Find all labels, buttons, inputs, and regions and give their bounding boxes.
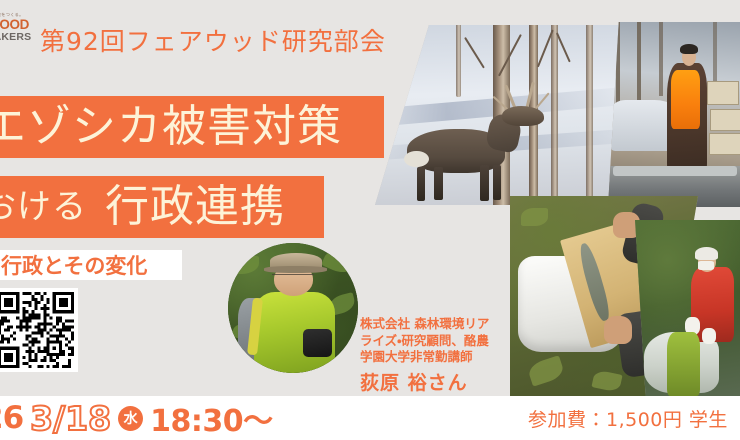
title-line2-small-text: おける (0, 190, 87, 224)
hunter-orange-vest-photo (608, 22, 740, 207)
title-line1-text: エゾシカ被害対策 (0, 105, 342, 149)
qr-code-image (0, 292, 74, 368)
fairwood-logo: 未来をつくる。 WOOD MAKERS (0, 12, 38, 56)
speaker-affiliation-line2: ライズ・研究顧問、酪農 (360, 333, 520, 350)
weekday-badge: 水 (118, 406, 143, 431)
speaker-portrait (228, 243, 358, 373)
subtitle-text: り行政とその変化 (0, 250, 147, 280)
title-bar-line2: おける 行政連携 (0, 176, 324, 238)
title-bar-line1: エゾシカ被害対策 (0, 96, 384, 158)
event-date: 3/18 (30, 399, 111, 438)
field-researcher-photo (635, 220, 740, 400)
speaker-name: 荻原 裕さん (360, 368, 520, 395)
participation-fee: 参加費：1,500円 学生 (528, 396, 728, 440)
event-poster: 未来をつくる。 WOOD MAKERS 第92回フェアウッド研究部会 (0, 0, 740, 440)
logo-word-wood: WOOD (0, 18, 38, 31)
subtitle-strip: り行政とその変化 (0, 250, 182, 280)
series-title: 第92回フェアウッド研究部会 (40, 22, 386, 58)
deer-in-snow-photo (375, 25, 620, 205)
event-year: 26 (0, 400, 23, 436)
event-time: 18:30〜 (150, 396, 273, 440)
event-date-block: 26 3/18 水 18:30〜 (0, 396, 273, 440)
speaker-affiliation-line1: 株式会社 森林環境リア (360, 316, 520, 333)
speaker-affiliation-line3: 学園大学非常勤講師 (360, 349, 520, 366)
speaker-info: 株式会社 森林環境リア ライズ・研究顧問、酪農 学園大学非常勤講師 荻原 裕さん (360, 316, 520, 395)
title-line2-large-text: 行政連携 (87, 185, 285, 229)
qr-code[interactable] (0, 288, 78, 372)
logo-word-makers: MAKERS (0, 31, 38, 43)
